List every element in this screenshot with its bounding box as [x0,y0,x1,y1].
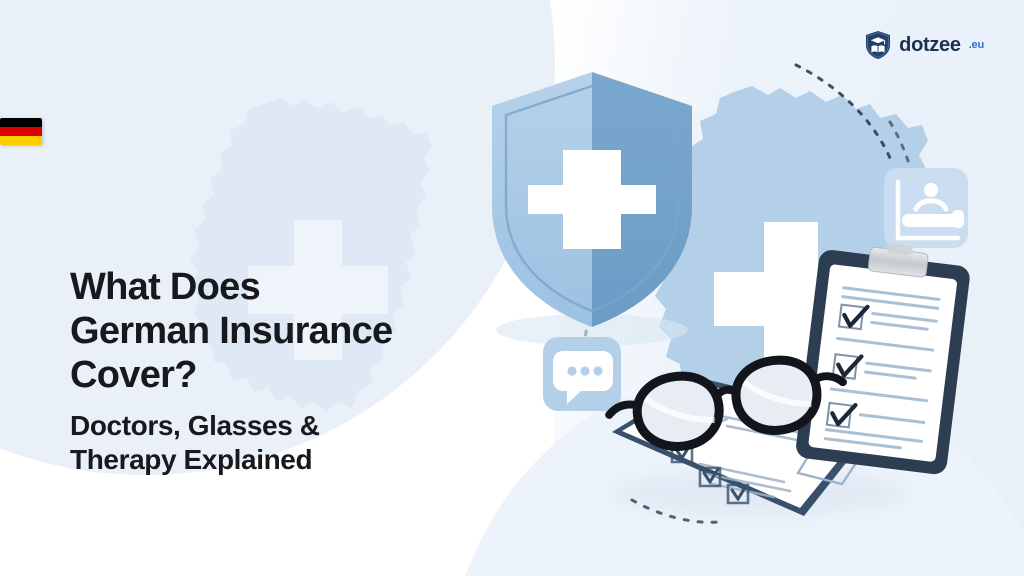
headline-sub: Doctors, Glasses & Therapy Explained [70,409,490,476]
insurance-shield [492,72,692,346]
headline-main: What Does German Insurance Cover? [70,265,490,397]
banner-canvas: dotzee .eu What Does German Insurance Co… [0,0,1024,576]
checklist-clipboard [795,235,973,476]
headline-block: What Does German Insurance Cover? Doctor… [70,265,490,476]
therapy-couch-icon [884,168,968,248]
chat-bubble-icon [543,337,621,411]
